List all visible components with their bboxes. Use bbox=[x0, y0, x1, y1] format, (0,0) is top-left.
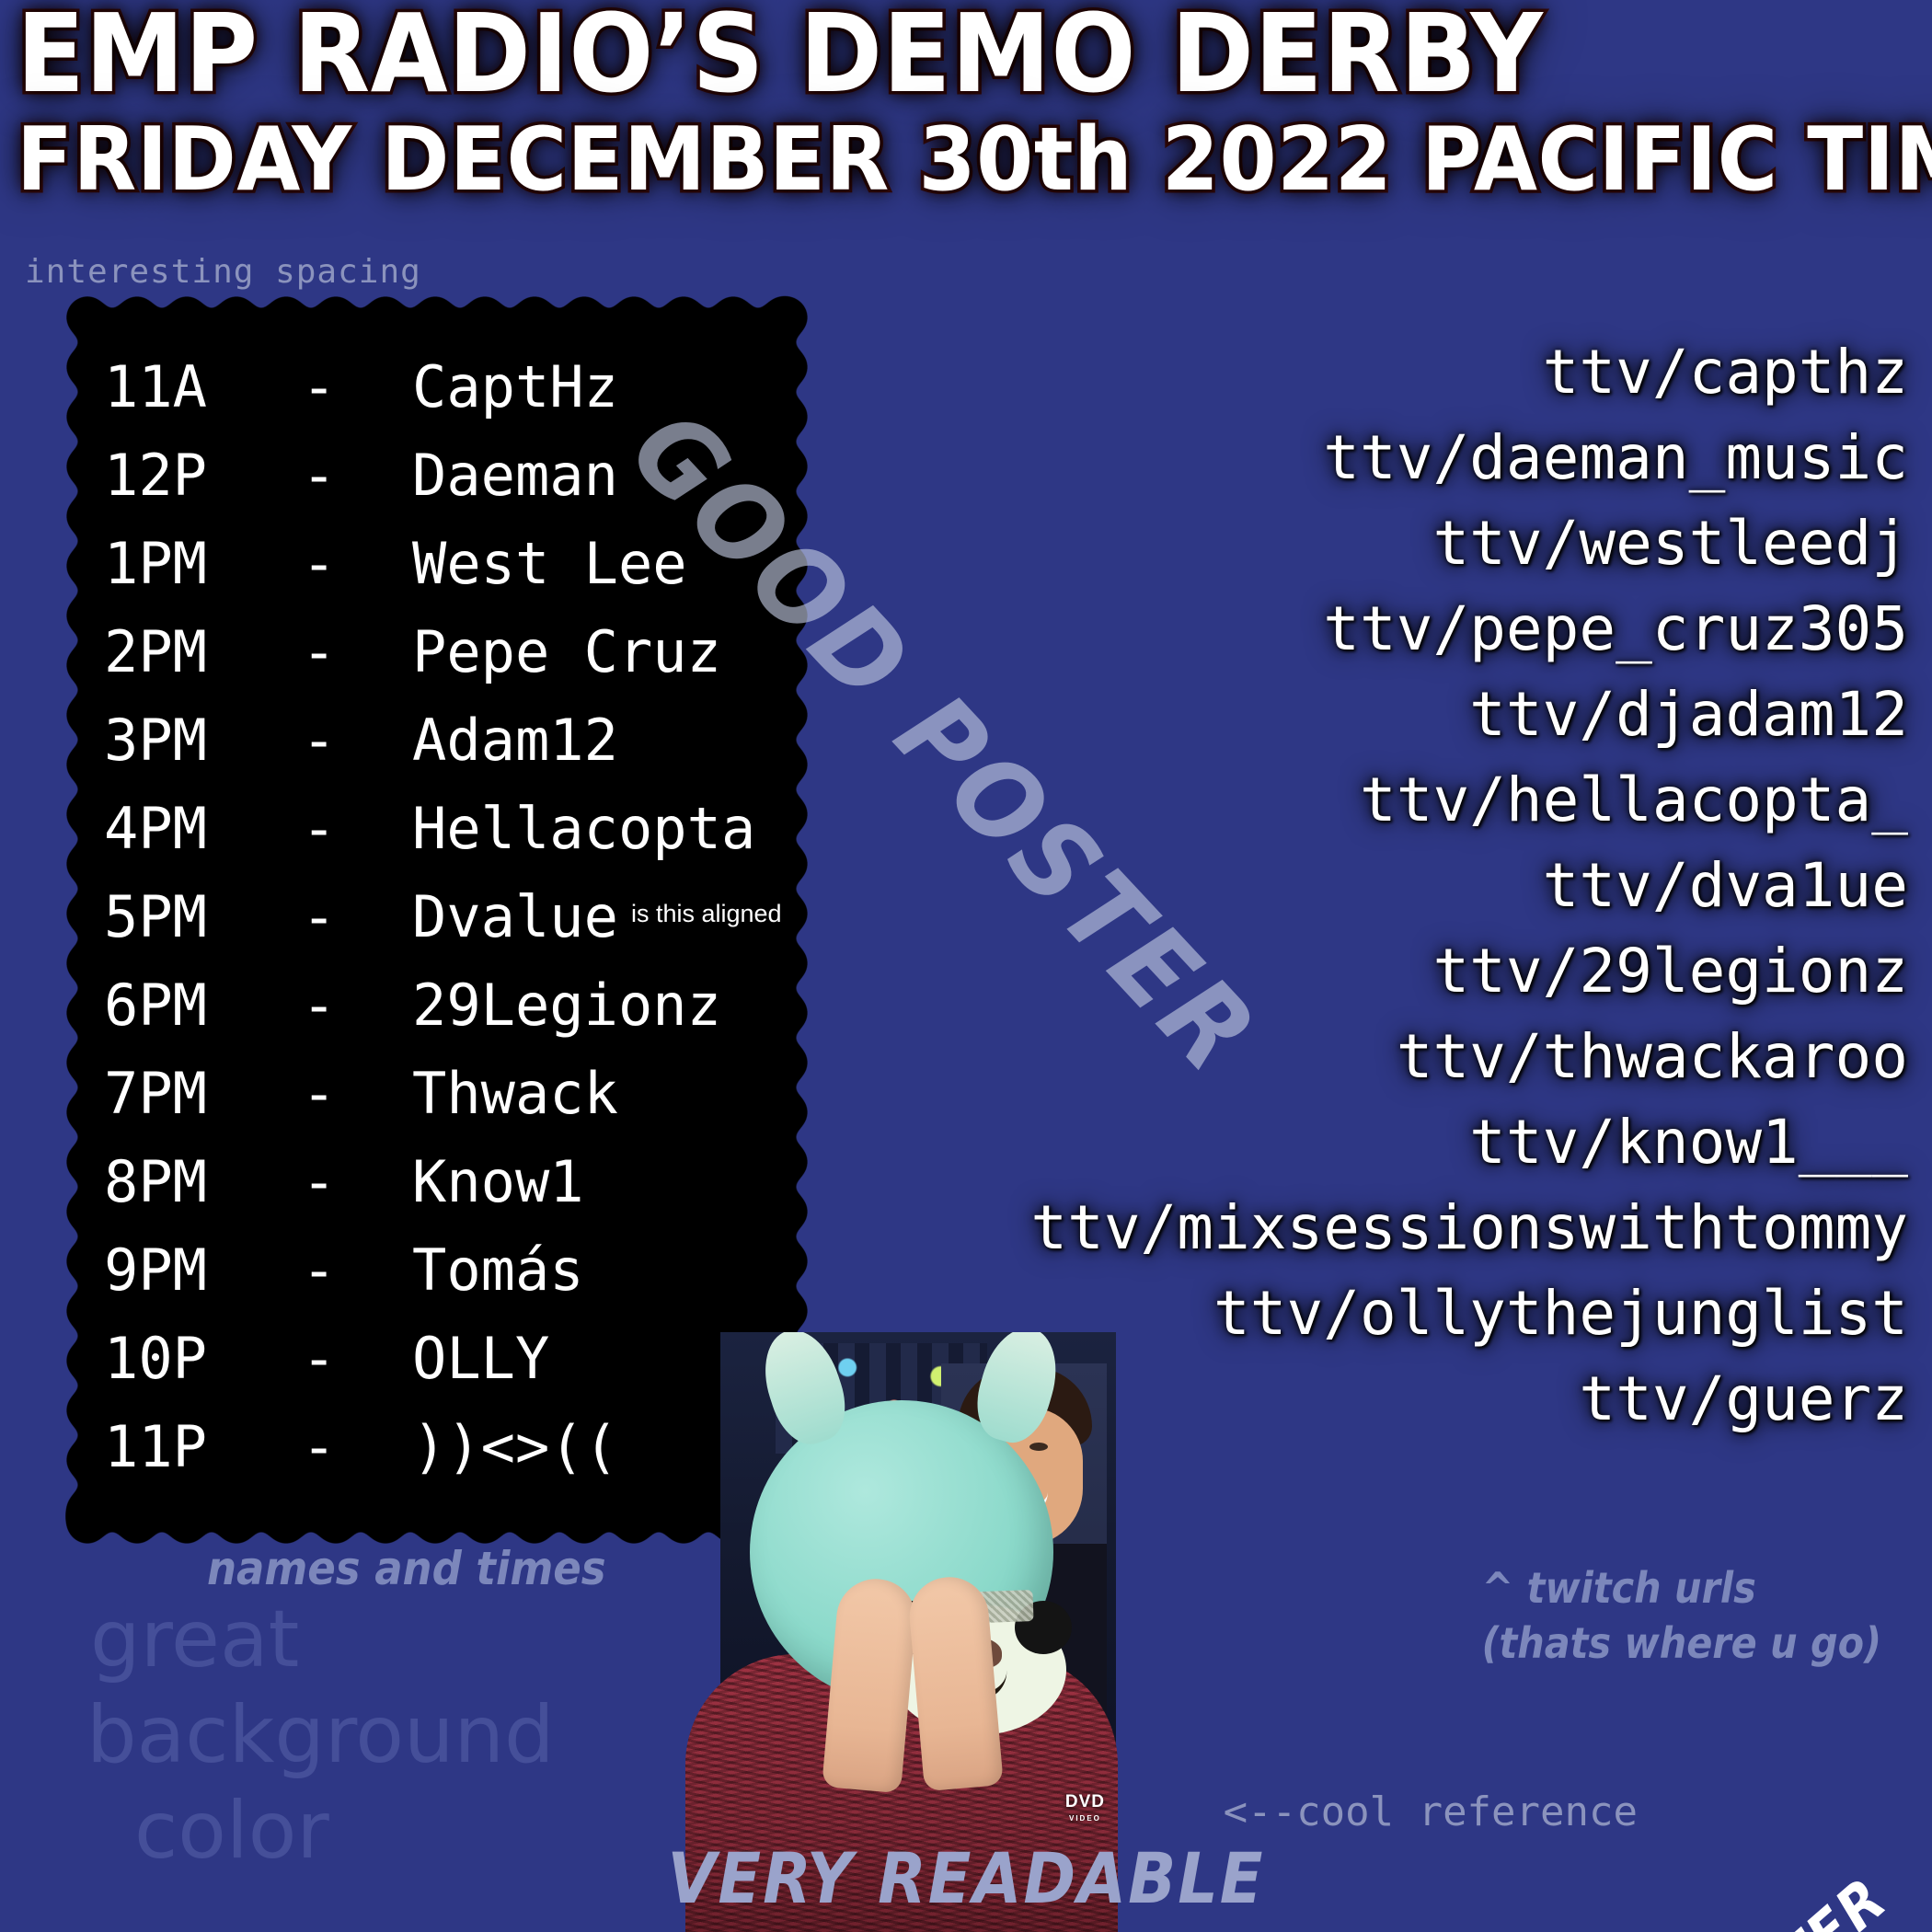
annotation-twitch-urls-line1: ^ twitch urls bbox=[1482, 1560, 1881, 1616]
twitch-url-item[interactable]: ttv/westleedj bbox=[712, 500, 1908, 586]
schedule-row: 10P-OLLY bbox=[104, 1315, 787, 1403]
schedule-row-separator: - bbox=[302, 785, 412, 873]
annotation-cool-reference: <--cool reference bbox=[1224, 1788, 1638, 1835]
eye-right-shape bbox=[1029, 1443, 1048, 1451]
schedule-row-separator: - bbox=[302, 1138, 412, 1226]
dvd-sublabel: VIDEO bbox=[1065, 1811, 1105, 1827]
annotation-very-readable: VERY READABLE bbox=[0, 1837, 1932, 1919]
schedule-row-separator: - bbox=[302, 431, 412, 520]
title-line-1: EMP RADIO’S DEMO DERBY bbox=[17, 2, 1932, 105]
twitch-url-item[interactable]: ttv/daeman_music bbox=[712, 415, 1908, 500]
schedule-row-time: 7PM bbox=[104, 1050, 302, 1138]
twitch-url-item[interactable]: ttv/djadam12 bbox=[712, 672, 1908, 757]
schedule-row-name: Pepe Cruz bbox=[412, 608, 721, 696]
twitch-url-item[interactable]: ttv/pepe_cruz305 bbox=[712, 586, 1908, 672]
schedule-row-name: Hellacopta bbox=[412, 785, 755, 873]
schedule-row-separator: - bbox=[302, 1050, 412, 1138]
schedule-row-time: 1PM bbox=[104, 520, 302, 608]
title-line-2: FRIDAY DECEMBER 30th 2022 PACIFIC TIME bbox=[17, 110, 1932, 210]
schedule-row-separator: - bbox=[302, 696, 412, 785]
schedule-row-name: ))<>(( bbox=[412, 1403, 618, 1491]
schedule-row-name: Adam12 bbox=[412, 696, 618, 785]
twitch-url-item[interactable]: ttv/know1___ bbox=[712, 1099, 1908, 1185]
twitch-url-item[interactable]: ttv/mixsessionswithtommy bbox=[712, 1185, 1908, 1271]
background-word-background: background bbox=[74, 1687, 555, 1783]
schedule-row-time: 6PM bbox=[104, 961, 302, 1050]
twitch-url-item[interactable]: ttv/thwackaroo bbox=[712, 1014, 1908, 1099]
schedule-row-name: Daeman bbox=[412, 431, 618, 520]
schedule-row-name: 29Legionz bbox=[412, 961, 721, 1050]
dvd-label: DVD bbox=[1065, 1792, 1105, 1811]
schedule-row: 6PM-29Legionz bbox=[104, 961, 787, 1050]
schedule-row-name: Dvalue bbox=[412, 873, 618, 961]
schedule-row: 3PM-Adam12 bbox=[104, 696, 787, 785]
schedule-row-time: 9PM bbox=[104, 1226, 302, 1315]
schedule-row-separator: - bbox=[302, 343, 412, 431]
schedule-row-time: 11A bbox=[104, 343, 302, 431]
schedule-row-name: CaptHz bbox=[412, 343, 618, 431]
schedule-row-name: Know1 bbox=[412, 1138, 584, 1226]
schedule-row: 2PM-Pepe Cruz bbox=[104, 608, 787, 696]
schedule-row: 11P-))<>(( bbox=[104, 1403, 787, 1491]
twitch-url-item[interactable]: ttv/capthz bbox=[712, 329, 1908, 415]
poster-canvas: EMP RADIO’S DEMO DERBY FRIDAY DECEMBER 3… bbox=[0, 0, 1932, 1932]
schedule-row-time: 3PM bbox=[104, 696, 302, 785]
twitch-url-item[interactable]: ttv/hellacopta_ bbox=[712, 757, 1908, 843]
annotation-interesting-spacing: interesting spacing bbox=[25, 253, 421, 291]
schedule-row-time: 4PM bbox=[104, 785, 302, 873]
schedule-row-name: Tomás bbox=[412, 1226, 584, 1315]
schedule-row-name: Thwack bbox=[412, 1050, 618, 1138]
schedule-row-name: OLLY bbox=[412, 1315, 549, 1403]
twitch-url-item[interactable]: ttv/dva1ue bbox=[712, 843, 1908, 928]
schedule-row-time: 2PM bbox=[104, 608, 302, 696]
schedule-row: 4PM-Hellacopta bbox=[104, 785, 787, 873]
schedule-row-separator: - bbox=[302, 608, 412, 696]
schedule-row-separator: - bbox=[302, 1403, 412, 1491]
schedule-row-separator: - bbox=[302, 961, 412, 1050]
schedule-row-time: 8PM bbox=[104, 1138, 302, 1226]
schedule-row-separator: - bbox=[302, 1226, 412, 1315]
schedule-row-time: 12P bbox=[104, 431, 302, 520]
schedule-row-time: 10P bbox=[104, 1315, 302, 1403]
schedule-row: 5PM-Dvalueis this aligned bbox=[104, 873, 787, 961]
annotation-twitch-urls-line2: (thats where u go) bbox=[1482, 1616, 1881, 1671]
schedule-row-time: 5PM bbox=[104, 873, 302, 961]
schedule-row-separator: - bbox=[302, 873, 412, 961]
twitch-url-list: ttv/capthzttv/daeman_musicttv/westleedjt… bbox=[712, 329, 1908, 1442]
twitch-url-item[interactable]: ttv/29legionz bbox=[712, 928, 1908, 1014]
dvd-video-logo: DVD VIDEO bbox=[1065, 1794, 1105, 1827]
page-title: EMP RADIO’S DEMO DERBY FRIDAY DECEMBER 3… bbox=[17, 2, 1921, 210]
schedule-row: 7PM-Thwack bbox=[104, 1050, 787, 1138]
schedule-row: 9PM-Tomás bbox=[104, 1226, 787, 1315]
schedule-row-separator: - bbox=[302, 1315, 412, 1403]
annotation-names-and-times: names and times bbox=[207, 1542, 606, 1595]
annotation-twitch-urls: ^ twitch urls (thats where u go) bbox=[1482, 1560, 1881, 1671]
schedule-row-name: West Lee bbox=[412, 520, 687, 608]
background-word-great: great bbox=[74, 1592, 555, 1687]
schedule-row-separator: - bbox=[302, 520, 412, 608]
schedule-row-time: 11P bbox=[104, 1403, 302, 1491]
background-words: great background color bbox=[74, 1592, 555, 1879]
schedule-row: 8PM-Know1 bbox=[104, 1138, 787, 1226]
